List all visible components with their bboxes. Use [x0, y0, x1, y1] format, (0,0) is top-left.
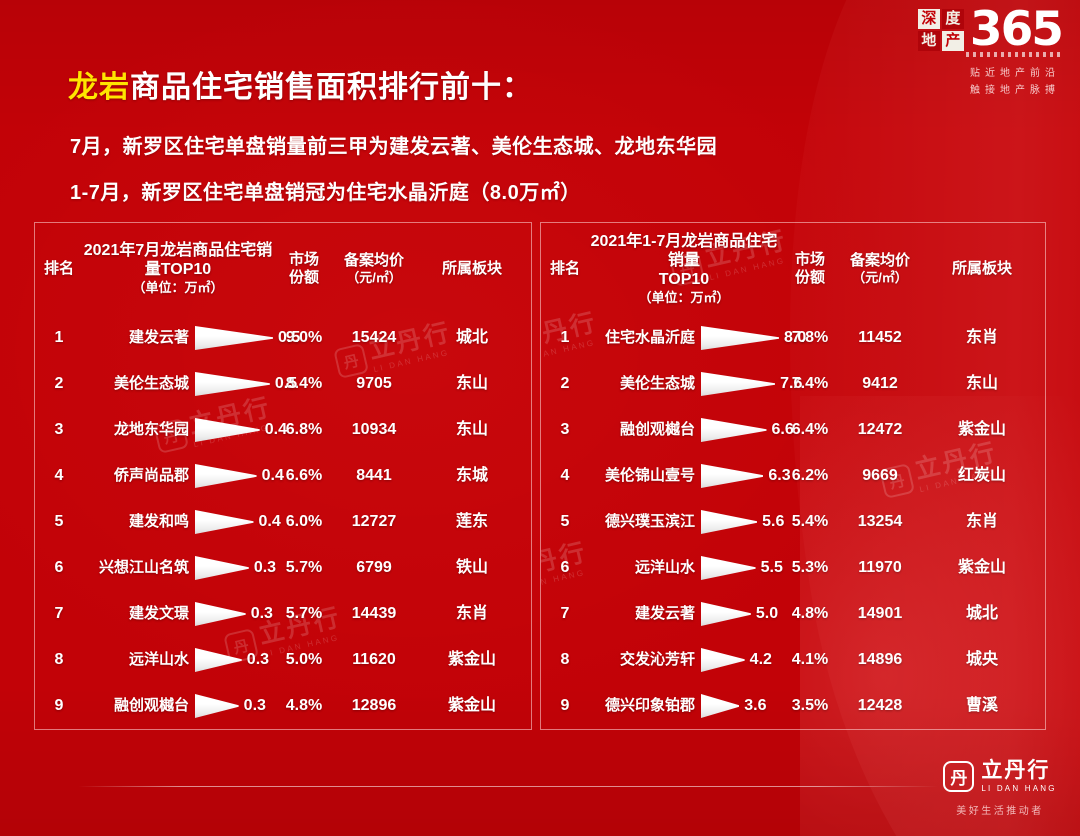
bar-value-label: 0.3: [251, 605, 273, 623]
bar-value-label: 0.4: [259, 513, 281, 531]
bar-cone: [195, 417, 260, 443]
project-name: 远洋山水: [83, 652, 195, 669]
project-bar-group: 融创观樾台0.3: [83, 683, 273, 729]
cell-project: 兴想江山名筑0.3: [83, 545, 273, 591]
cell-avg-price: 12428: [841, 683, 919, 729]
bar-value-label: 0.4: [262, 467, 284, 485]
cell-rank: 10: [541, 729, 589, 730]
project-bar-group: 美伦生态城7.6: [589, 361, 779, 407]
cell-rank: 4: [35, 453, 83, 499]
ranking-panel-july: 丹 立丹行 LI DAN HANG 丹 立丹行 LI DAN HANG 丹 立丹…: [34, 222, 532, 730]
cell-district: 东山: [919, 361, 1045, 407]
cell-avg-price: 15424: [335, 315, 413, 361]
th-price-line2: （元/㎡）: [841, 270, 919, 285]
cell-rank: 2: [541, 361, 589, 407]
cell-project: 美伦生态城0.5: [83, 361, 273, 407]
bar-track: 0.4: [195, 462, 273, 490]
cell-district: 城北: [919, 591, 1045, 637]
bar-track: 0.3: [195, 554, 273, 582]
cell-district: 铁山: [413, 545, 531, 591]
cell-district: 曹溪: [919, 729, 1045, 730]
project-bar-group: 美伦生态城0.5: [83, 361, 273, 407]
footer-slogan: 美好生活推动者: [934, 802, 1066, 817]
th-main: 2021年1-7月龙岩商品住宅销量 TOP10 （单位：万㎡）: [589, 223, 779, 315]
th-share-line1: 市场: [273, 251, 335, 269]
bar-track: 0.3: [195, 646, 273, 674]
cell-project: 融创观樾台6.6: [589, 407, 779, 453]
cell-market-share: 5.4%: [779, 499, 841, 545]
bar-value-label: 5.5: [761, 559, 783, 577]
th-price-line1: 备案均价: [335, 252, 413, 270]
cell-project: 德兴印象铂郡3.6: [589, 683, 779, 729]
th-main: 2021年7月龙岩商品住宅销量TOP10 （单位：万㎡）: [83, 223, 273, 315]
brand-char-4: 产: [942, 31, 964, 51]
brand-logo-characters: 深 度 地 产: [918, 9, 964, 51]
cell-district: 东城: [413, 453, 531, 499]
footer-brand-cn: 立丹行: [981, 760, 1056, 781]
cell-avg-price: 13254: [841, 499, 919, 545]
bar-cone: [701, 555, 756, 581]
cell-rank: 8: [35, 637, 83, 683]
project-name: 建发和鸣: [83, 514, 195, 531]
cell-rank: 3: [35, 407, 83, 453]
bar-value-label: 6.6: [772, 421, 794, 439]
project-name: 美伦生态城: [83, 376, 195, 393]
table-header-july: 排名 2021年7月龙岩商品住宅销量TOP10 （单位：万㎡） 市场 份额 备案…: [35, 223, 531, 315]
cell-project: 源昌君悦山3.6: [589, 729, 779, 730]
th-price: 备案均价 （元/㎡）: [841, 223, 919, 315]
cell-rank: 8: [541, 637, 589, 683]
cell-district: 紫金山: [919, 545, 1045, 591]
project-name: 远洋山水: [589, 560, 701, 577]
ranking-table-jan-july: 排名 2021年1-7月龙岩商品住宅销量 TOP10 （单位：万㎡） 市场 份额…: [541, 223, 1045, 730]
table-row: 2美伦生态城7.67.4%9412东山: [541, 361, 1045, 407]
footer-brand-en: LI DAN HANG: [981, 785, 1056, 793]
project-bar-group: 建发文璟0.3: [83, 591, 273, 637]
table-row: 8远洋山水0.35.0%11620紫金山: [35, 637, 531, 683]
table-row: 10源昌君悦山3.63.5%13065曹溪: [541, 729, 1045, 730]
cell-avg-price: 9705: [335, 361, 413, 407]
table-row: 4美伦锦山壹号6.36.2%9669红炭山: [541, 453, 1045, 499]
table-header-row: 排名 2021年1-7月龙岩商品住宅销量 TOP10 （单位：万㎡） 市场 份额…: [541, 223, 1045, 315]
table-body-july: 1建发云著0.59.0%15424城北2美伦生态城0.58.4%9705东山3龙…: [35, 315, 531, 730]
project-bar-group: 建发和鸣0.4: [83, 499, 273, 545]
cell-project: 德兴璞玉滨江5.6: [589, 499, 779, 545]
footer-brand-logo: 丹 立丹行 LI DAN HANG 美好生活推动者: [934, 760, 1066, 817]
cell-rank: 7: [35, 591, 83, 637]
cell-rank: 5: [35, 499, 83, 545]
table-row: 6远洋山水5.55.3%11970紫金山: [541, 545, 1045, 591]
bar-track: 0.5: [195, 370, 273, 398]
project-bar-group: 源昌君悦山0.2: [83, 729, 273, 730]
project-name: 龙地东华园: [83, 422, 195, 439]
project-bar-group: 龙地东华园0.4: [83, 407, 273, 453]
project-bar-group: 美伦锦山壹号6.3: [589, 453, 779, 499]
cell-district: 东肖: [919, 499, 1045, 545]
cell-project: 交发沁芳轩4.2: [589, 637, 779, 683]
table-row: 7建发文璟0.35.7%14439东肖: [35, 591, 531, 637]
subtitle-line-1: 7月，新罗区住宅单盘销量前三甲为建发云著、美伦生态城、龙地东华园: [70, 130, 717, 159]
th-block: 所属板块: [413, 223, 531, 315]
brand-tagline-2: 触接地产脉搏: [912, 83, 1060, 100]
cell-market-share: 6.0%: [273, 499, 335, 545]
cell-market-share: 3.5%: [779, 729, 841, 730]
bar-value-label: 8.0: [784, 329, 806, 347]
brand-logo-row: 深 度 地 产 365: [912, 8, 1062, 51]
bar-value-label: 6.3: [768, 467, 790, 485]
th-price-line2: （元/㎡）: [335, 270, 413, 285]
bar-cone: [701, 647, 745, 673]
th-price-line1: 备案均价: [841, 252, 919, 270]
project-name: 住宅水晶沂庭: [589, 330, 701, 347]
project-bar-group: 远洋山水0.3: [83, 637, 273, 683]
cell-rank: 10: [35, 729, 83, 730]
project-bar-group: 融创观樾台6.6: [589, 407, 779, 453]
table-row: 9德兴印象铂郡3.63.5%12428曹溪: [541, 683, 1045, 729]
project-bar-group: 远洋山水5.5: [589, 545, 779, 591]
cell-rank: 2: [35, 361, 83, 407]
table-body-jan-july: 1住宅水晶沂庭8.07.8%11452东肖2美伦生态城7.67.4%9412东山…: [541, 315, 1045, 730]
cell-project: 源昌君悦山0.2: [83, 729, 273, 730]
project-name: 侨声尚品郡: [83, 468, 195, 485]
bar-value-label: 5.6: [762, 513, 784, 531]
project-name: 德兴印象铂郡: [589, 698, 701, 715]
project-bar-group: 源昌君悦山3.6: [589, 729, 779, 730]
cell-project: 建发云著5.0: [589, 591, 779, 637]
table-row: 9融创观樾台0.34.8%12896紫金山: [35, 683, 531, 729]
bar-cone: [195, 325, 273, 351]
brand-logo: 深 度 地 产 365 贴近地产前沿 触接地产脉搏: [912, 8, 1062, 99]
bar-track: 3.6: [701, 692, 779, 720]
bar-track: 5.0: [701, 600, 779, 628]
subtitle-line-2: 1-7月，新罗区住宅单盘销冠为住宅水晶沂庭（8.0万㎡）: [70, 176, 581, 205]
page-title: 龙岩商品住宅销售面积排行前十：: [68, 62, 533, 106]
table-row: 2美伦生态城0.58.4%9705东山: [35, 361, 531, 407]
table-header-jan-july: 排名 2021年1-7月龙岩商品住宅销量 TOP10 （单位：万㎡） 市场 份额…: [541, 223, 1045, 315]
cell-market-share: 5.7%: [273, 545, 335, 591]
bar-track: 6.6: [701, 416, 779, 444]
bar-cone: [195, 601, 246, 627]
cell-project: 远洋山水0.3: [83, 637, 273, 683]
cell-rank: 5: [541, 499, 589, 545]
footer-brand-row: 丹 立丹行 LI DAN HANG: [934, 760, 1066, 793]
th-main-line1: 2021年1-7月龙岩商品住宅销量: [589, 233, 779, 271]
cell-district: 紫金山: [413, 683, 531, 729]
cell-market-share: 4.8%: [273, 683, 335, 729]
project-bar-group: 交发沁芳轩4.2: [589, 637, 779, 683]
bar-cone: [701, 417, 767, 443]
bar-value-label: 0.5: [278, 329, 300, 347]
project-bar-group: 建发云著0.5: [83, 315, 273, 361]
bar-cone: [195, 555, 249, 581]
cell-rank: 1: [541, 315, 589, 361]
bar-cone: [701, 325, 779, 351]
table-row: 10源昌君悦山0.24.1%13077曹溪: [35, 729, 531, 730]
brand-char-1: 深: [918, 9, 940, 29]
bar-track: 7.6: [701, 370, 779, 398]
cell-avg-price: 13077: [335, 729, 413, 730]
th-block: 所属板块: [919, 223, 1045, 315]
th-main-line1b: TOP10: [589, 271, 779, 290]
brand-taglines: 贴近地产前沿 触接地产脉搏: [912, 66, 1062, 99]
cell-avg-price: 12896: [335, 683, 413, 729]
cell-project: 龙地东华园0.4: [83, 407, 273, 453]
cell-market-share: 4.8%: [779, 591, 841, 637]
cell-project: 侨声尚品郡0.4: [83, 453, 273, 499]
project-name: 融创观樾台: [83, 698, 195, 715]
bar-track: 6.3: [701, 462, 779, 490]
cell-avg-price: 11452: [841, 315, 919, 361]
table-row: 1住宅水晶沂庭8.07.8%11452东肖: [541, 315, 1045, 361]
cell-market-share: 5.0%: [273, 637, 335, 683]
cell-project: 住宅水晶沂庭8.0: [589, 315, 779, 361]
cell-district: 东肖: [413, 591, 531, 637]
table-row: 3龙地东华园0.46.8%10934东山: [35, 407, 531, 453]
page-title-highlight: 龙岩: [68, 71, 130, 104]
table-row: 1建发云著0.59.0%15424城北: [35, 315, 531, 361]
cell-avg-price: 6799: [335, 545, 413, 591]
th-share: 市场 份额: [779, 223, 841, 315]
cell-rank: 9: [541, 683, 589, 729]
cell-avg-price: 12727: [335, 499, 413, 545]
brand-char-2: 度: [942, 9, 964, 29]
table-row: 7建发云著5.04.8%14901城北: [541, 591, 1045, 637]
cell-avg-price: 10934: [335, 407, 413, 453]
cell-rank: 7: [541, 591, 589, 637]
cell-district: 东山: [413, 407, 531, 453]
project-name: 兴想江山名筑: [83, 560, 195, 577]
project-name: 美伦生态城: [589, 376, 701, 393]
cell-district: 紫金山: [413, 637, 531, 683]
cell-district: 曹溪: [919, 683, 1045, 729]
footer-brand-text: 立丹行 LI DAN HANG: [981, 760, 1056, 793]
brand-tagline-1: 贴近地产前沿: [912, 66, 1060, 83]
cell-avg-price: 14439: [335, 591, 413, 637]
bar-track: 5.5: [701, 554, 779, 582]
project-bar-group: 德兴璞玉滨江5.6: [589, 499, 779, 545]
project-bar-group: 德兴印象铂郡3.6: [589, 683, 779, 729]
table-row: 4侨声尚品郡0.46.6%8441东城: [35, 453, 531, 499]
ranking-table-july: 排名 2021年7月龙岩商品住宅销量TOP10 （单位：万㎡） 市场 份额 备案…: [35, 223, 531, 730]
project-name: 美伦锦山壹号: [589, 468, 701, 485]
cell-avg-price: 12472: [841, 407, 919, 453]
bar-cone: [195, 371, 270, 397]
cell-avg-price: 13065: [841, 729, 919, 730]
cell-district: 城北: [413, 315, 531, 361]
bar-value-label: 3.6: [744, 697, 766, 715]
bar-value-label: 7.6: [780, 375, 802, 393]
ranking-panel-jan-july: 丹 立丹行 LI DAN HANG 丹 立丹行 LI DAN HANG 丹 立丹…: [540, 222, 1046, 730]
cell-district: 东山: [413, 361, 531, 407]
cell-market-share: 5.7%: [273, 591, 335, 637]
th-rank: 排名: [35, 223, 83, 315]
bar-value-label: 0.5: [275, 375, 297, 393]
cell-avg-price: 14901: [841, 591, 919, 637]
table-row: 8交发沁芳轩4.24.1%14896城央: [541, 637, 1045, 683]
th-price: 备案均价 （元/㎡）: [335, 223, 413, 315]
cell-avg-price: 9669: [841, 453, 919, 499]
cell-rank: 6: [35, 545, 83, 591]
cell-rank: 1: [35, 315, 83, 361]
cell-market-share: 3.5%: [779, 683, 841, 729]
bar-track: 0.3: [195, 692, 273, 720]
table-row: 3融创观樾台6.66.4%12472紫金山: [541, 407, 1045, 453]
bar-value-label: 0.4: [265, 421, 287, 439]
cell-district: 红炭山: [919, 453, 1045, 499]
project-name: 建发云著: [83, 330, 195, 347]
table-row: 6兴想江山名筑0.35.7%6799铁山: [35, 545, 531, 591]
project-bar-group: 兴想江山名筑0.3: [83, 545, 273, 591]
project-name: 融创观樾台: [589, 422, 701, 439]
cell-avg-price: 8441: [335, 453, 413, 499]
th-share-line2: 份额: [273, 269, 335, 287]
table-row: 5德兴璞玉滨江5.65.4%13254东肖: [541, 499, 1045, 545]
project-name: 建发文璟: [83, 606, 195, 623]
bar-track: 0.4: [195, 508, 273, 536]
cell-market-share: 4.1%: [273, 729, 335, 730]
bar-cone: [195, 647, 242, 673]
cell-district: 紫金山: [919, 407, 1045, 453]
bar-track: 0.3: [195, 600, 273, 628]
cell-rank: 3: [541, 407, 589, 453]
project-bar-group: 侨声尚品郡0.4: [83, 453, 273, 499]
bar-cone: [195, 463, 257, 489]
cell-avg-price: 14896: [841, 637, 919, 683]
bar-cone: [195, 693, 239, 719]
bar-cone: [701, 693, 739, 719]
bar-cone: [701, 509, 757, 535]
project-bar-group: 建发云著5.0: [589, 591, 779, 637]
cell-project: 美伦生态城7.6: [589, 361, 779, 407]
bar-cone: [701, 463, 763, 489]
bar-cone: [701, 371, 775, 397]
table-row: 5建发和鸣0.46.0%12727莲东: [35, 499, 531, 545]
cell-market-share: 5.3%: [779, 545, 841, 591]
footer-seal-icon: 丹: [943, 761, 974, 792]
bar-value-label: 5.0: [756, 605, 778, 623]
cell-district: 城央: [919, 637, 1045, 683]
cell-project: 融创观樾台0.3: [83, 683, 273, 729]
bar-value-label: 4.2: [750, 651, 772, 669]
bar-value-label: 0.3: [247, 651, 269, 669]
cell-district: 曹溪: [413, 729, 531, 730]
cell-rank: 4: [541, 453, 589, 499]
bar-track: 5.6: [701, 508, 779, 536]
cell-rank: 6: [541, 545, 589, 591]
th-main-line2: （单位：万㎡）: [589, 290, 779, 305]
bar-track: 4.2: [701, 646, 779, 674]
cell-avg-price: 9412: [841, 361, 919, 407]
page-title-rest: 商品住宅销售面积排行前十：: [130, 71, 533, 104]
brand-char-3: 地: [918, 31, 940, 51]
th-share-line1: 市场: [779, 251, 841, 269]
footer-divider: [78, 786, 938, 787]
th-share-line2: 份额: [779, 269, 841, 287]
project-name: 建发云著: [589, 606, 701, 623]
cell-project: 建发云著0.5: [83, 315, 273, 361]
bar-track: 8.0: [701, 324, 779, 352]
th-rank: 排名: [541, 223, 589, 315]
bar-track: 0.4: [195, 416, 273, 444]
cell-district: 莲东: [413, 499, 531, 545]
cell-project: 建发文璟0.3: [83, 591, 273, 637]
cell-avg-price: 11970: [841, 545, 919, 591]
project-name: 德兴璞玉滨江: [589, 514, 701, 531]
bar-track: 0.5: [195, 324, 273, 352]
poster-root: 深 度 地 产 365 贴近地产前沿 触接地产脉搏 龙岩商品住宅销售面积排行前十…: [0, 0, 1080, 836]
table-header-row: 排名 2021年7月龙岩商品住宅销量TOP10 （单位：万㎡） 市场 份额 备案…: [35, 223, 531, 315]
cell-project: 建发和鸣0.4: [83, 499, 273, 545]
cell-rank: 9: [35, 683, 83, 729]
cell-district: 东肖: [919, 315, 1045, 361]
cell-project: 远洋山水5.5: [589, 545, 779, 591]
brand-logo-underbar: [966, 52, 1062, 57]
bar-cone: [701, 601, 751, 627]
bar-value-label: 0.3: [244, 697, 266, 715]
bar-cone: [195, 509, 254, 535]
th-main-line1: 2021年7月龙岩商品住宅销量TOP10: [83, 242, 273, 280]
brand-logo-number: 365: [970, 8, 1062, 51]
project-name: 交发沁芳轩: [589, 652, 701, 669]
cell-avg-price: 11620: [335, 637, 413, 683]
th-share: 市场 份额: [273, 223, 335, 315]
cell-market-share: 4.1%: [779, 637, 841, 683]
bar-value-label: 0.3: [254, 559, 276, 577]
th-main-line2: （单位：万㎡）: [83, 280, 273, 295]
cell-project: 美伦锦山壹号6.3: [589, 453, 779, 499]
project-bar-group: 住宅水晶沂庭8.0: [589, 315, 779, 361]
